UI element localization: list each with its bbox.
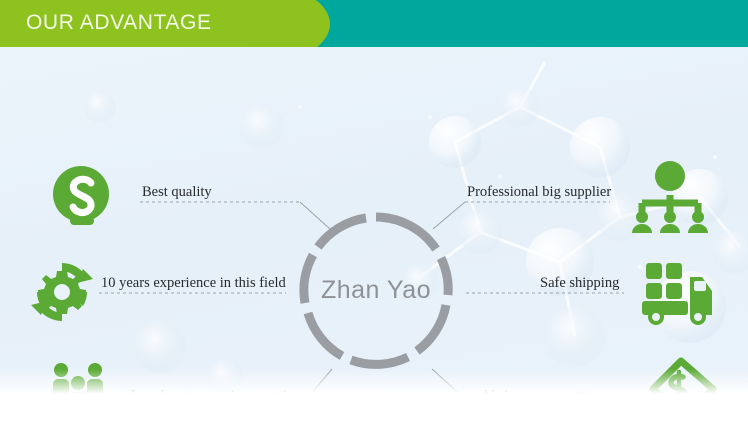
- feature-label-professional-supplier: Professional big supplier: [467, 184, 611, 201]
- page-title: OUR ADVANTAGE: [26, 11, 212, 35]
- quality-sq-icon: [44, 161, 118, 235]
- gear-refresh-icon: [25, 255, 99, 329]
- feature-label-safe-shipping: Safe shipping: [540, 275, 619, 292]
- delivery-truck-icon: [636, 257, 716, 329]
- feature-label-best-quality: Best quality: [142, 184, 212, 201]
- feature-label-years-experience: 10 years experience in this field: [101, 275, 286, 292]
- page-header: OUR ADVANTAGE: [0, 0, 748, 47]
- panel-bottom-fade: [0, 369, 748, 395]
- org-hierarchy-icon: [630, 159, 710, 235]
- center-ring-label: Zhan Yao: [296, 210, 456, 370]
- center-ring: Zhan Yao: [296, 210, 456, 370]
- advantage-panel: Zhan Yao Best quality 10 years experienc…: [0, 47, 748, 395]
